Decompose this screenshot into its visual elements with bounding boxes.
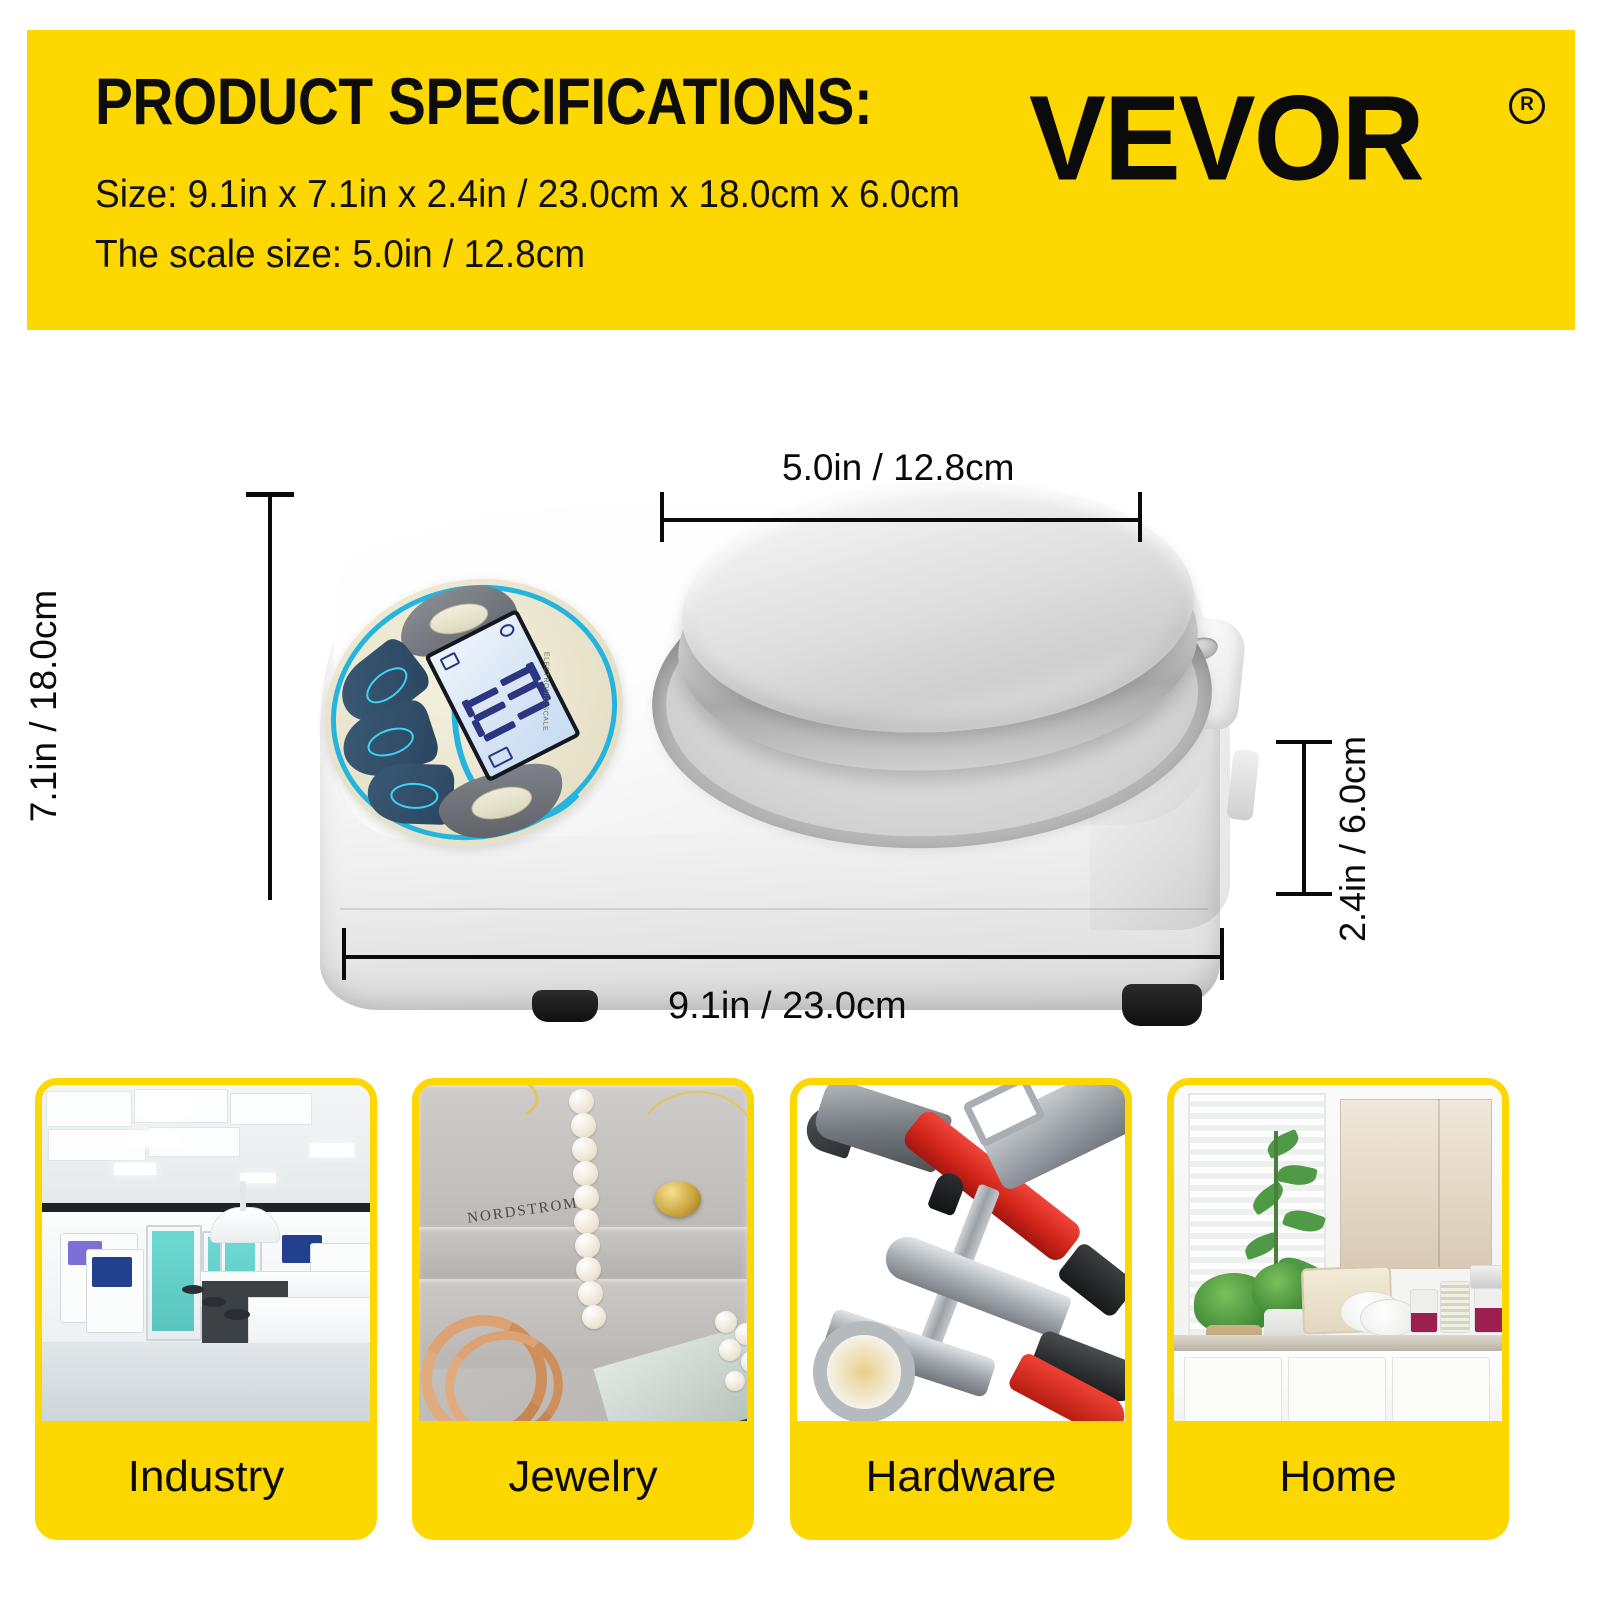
- width-dimension-cap-left: [342, 928, 346, 980]
- storage-jar: [1440, 1281, 1470, 1333]
- spec-size-line: Size: 9.1in x 7.1in x 2.4in / 23.0cm x 1…: [95, 175, 960, 214]
- pearl: [574, 1185, 599, 1210]
- pearl: [719, 1339, 741, 1361]
- height-dimension-cap: [246, 492, 294, 497]
- card-home-image: [1174, 1085, 1502, 1429]
- lab-floor: [42, 1343, 370, 1429]
- pearl: [569, 1089, 594, 1114]
- pearl: [571, 1113, 596, 1138]
- specifications-banner: PRODUCT SPECIFICATIONS: Size: 9.1in x 7.…: [27, 30, 1575, 330]
- card-industry-image: [42, 1085, 370, 1429]
- cabinet-door-seam: [1438, 1099, 1440, 1267]
- pearl: [715, 1311, 737, 1333]
- storage-jar: [1410, 1289, 1438, 1333]
- pan-dimension-cap-left: [660, 492, 664, 542]
- width-dimension-label: 9.1in / 23.0cm: [668, 985, 907, 1028]
- storage-jar: [1474, 1287, 1502, 1333]
- cabinet-glass: [152, 1231, 194, 1331]
- wall-cabinet: [1340, 1099, 1492, 1269]
- card-hardware[interactable]: Hardware: [790, 1078, 1132, 1540]
- scale-side-port: [1226, 749, 1259, 821]
- ratchet-head: [813, 1321, 915, 1423]
- lab-stool: [202, 1297, 226, 1307]
- card-home-label: Home: [1174, 1421, 1502, 1533]
- ceiling-tile: [46, 1091, 132, 1127]
- card-jewelry-image: NORDSTROM: [419, 1085, 747, 1429]
- scale-foot-right: [1122, 984, 1202, 1026]
- kitchen-scene: [1174, 1085, 1502, 1429]
- lcd-mode-icon: [439, 652, 460, 671]
- ceiling-tile: [230, 1093, 312, 1125]
- pan-dimension-line: [660, 518, 1142, 522]
- lab-unit-screen: [92, 1257, 132, 1287]
- pearl: [575, 1233, 600, 1258]
- lab-ceiling-strip: [42, 1203, 370, 1212]
- pearl: [574, 1209, 599, 1234]
- card-hardware-label: Hardware: [797, 1421, 1125, 1533]
- lab-cabinet: [146, 1225, 202, 1341]
- card-jewelry-label: Jewelry: [419, 1421, 747, 1533]
- lab-stool: [182, 1285, 204, 1294]
- ceiling-light: [128, 1131, 180, 1147]
- card-hardware-image: [797, 1085, 1125, 1429]
- pearl: [582, 1305, 606, 1329]
- hardware-scene: [797, 1085, 1125, 1429]
- depth-dimension-label: 2.4in / 6.0cm: [1332, 736, 1374, 942]
- pearl: [573, 1161, 598, 1186]
- vevor-logo: VEVOR R: [1029, 78, 1549, 188]
- registered-trademark-icon: R: [1509, 88, 1545, 124]
- jewelry-scene: NORDSTROM: [419, 1085, 747, 1429]
- width-dimension-cap-right: [1220, 928, 1224, 980]
- use-case-cards: Industry NORDSTROM: [0, 1078, 1600, 1558]
- height-dimension-label: 7.1in / 18.0cm: [23, 590, 65, 822]
- card-home[interactable]: Home: [1167, 1078, 1509, 1540]
- height-dimension-line: [268, 492, 272, 900]
- pan-dimension-cap-right: [1138, 492, 1142, 542]
- pan-dimension-label: 5.0in / 12.8cm: [782, 447, 1014, 489]
- depth-dimension-cap-top: [1276, 740, 1332, 744]
- page-title: PRODUCT SPECIFICATIONS:: [95, 68, 872, 134]
- pearl: [725, 1371, 745, 1391]
- depth-dimension-cap-bottom: [1276, 892, 1332, 896]
- base-cabinet-door: [1288, 1357, 1386, 1423]
- laboratory-scene: [42, 1085, 370, 1429]
- width-dimension-line: [342, 955, 1224, 959]
- pearl: [572, 1137, 597, 1162]
- brand-wordmark: VEVOR: [1029, 78, 1423, 199]
- electronic-scale-product: ELECTRONIC SCALE: [300, 450, 1250, 1010]
- gem-pendant: [655, 1181, 701, 1217]
- lcd-stable-icon: [498, 622, 517, 640]
- base-cabinet-door: [1184, 1357, 1282, 1423]
- ceiling-light: [310, 1143, 354, 1157]
- lcd-segment: [507, 679, 540, 701]
- pearl: [578, 1281, 603, 1306]
- surgical-light-arm: [240, 1181, 246, 1211]
- depth-dimension-line: [1302, 740, 1306, 896]
- product-hero: ELECTRONIC SCALE 7.1in / 18.0cm 9.1in / …: [0, 340, 1600, 1060]
- scale-foot-left: [532, 990, 598, 1022]
- scale-case-seam: [340, 908, 1208, 910]
- ceiling-light: [114, 1163, 156, 1175]
- spec-scale-size-line: The scale size: 5.0in / 12.8cm: [95, 235, 585, 274]
- card-industry-label: Industry: [42, 1421, 370, 1533]
- panel-brand-text: ELECTRONIC SCALE: [541, 652, 549, 732]
- card-jewelry[interactable]: NORDSTROM: [412, 1078, 754, 1540]
- pearl: [576, 1257, 601, 1282]
- kitchen-countertop: [1174, 1335, 1502, 1351]
- lcd-battery-icon: [488, 746, 514, 768]
- lab-stool: [224, 1309, 250, 1320]
- card-industry[interactable]: Industry: [35, 1078, 377, 1540]
- kitchen-scale: [1470, 1265, 1502, 1289]
- base-cabinet-door: [1392, 1357, 1490, 1423]
- ceiling-light: [138, 1099, 192, 1117]
- lcd-segment: [483, 721, 516, 743]
